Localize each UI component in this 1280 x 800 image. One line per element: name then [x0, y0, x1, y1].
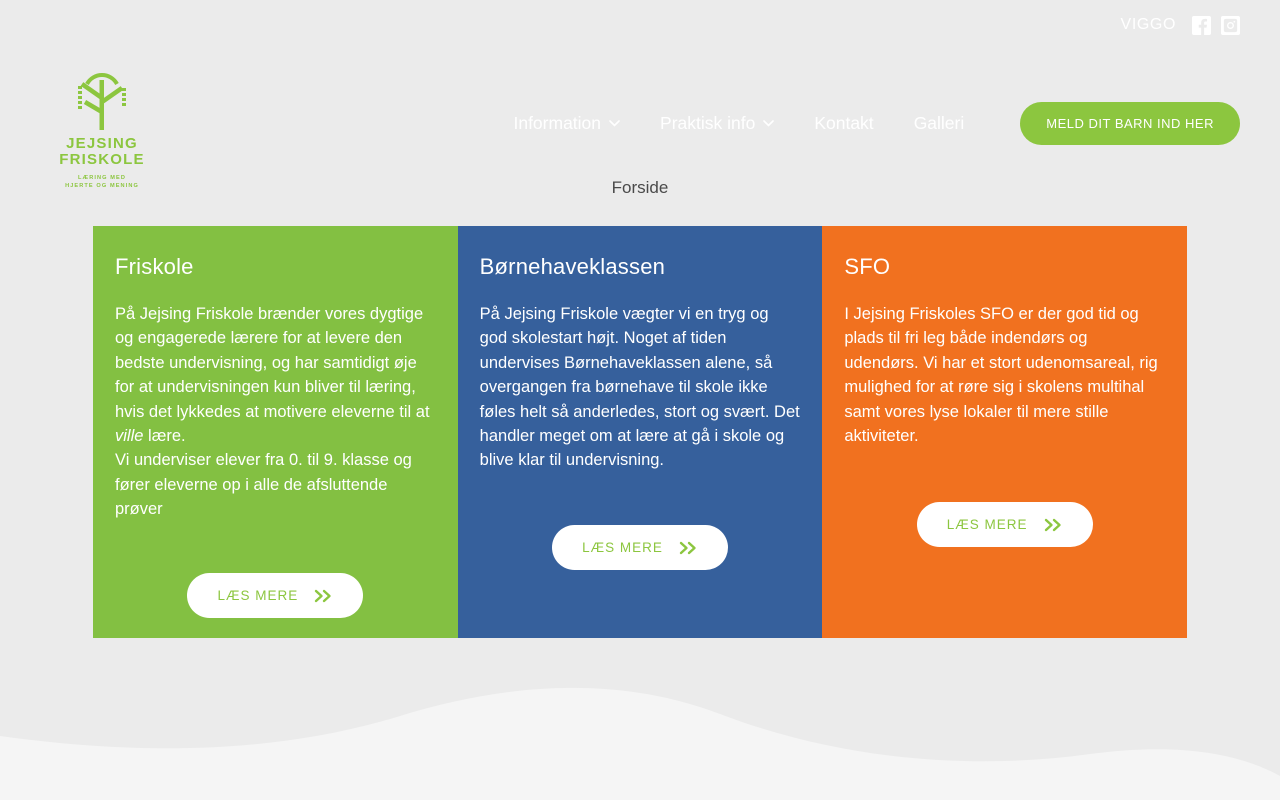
- card-body-part2: lære. Vi underviser elever fra 0. til 9.…: [115, 427, 412, 518]
- card-footer: LÆS MERE: [480, 525, 801, 638]
- card-sfo: SFO I Jejsing Friskoles SFO er der god t…: [822, 226, 1187, 638]
- card-footer: LÆS MERE: [844, 502, 1165, 638]
- card-title: SFO: [844, 254, 1165, 280]
- site-logo[interactable]: JEJSING FRISKOLE LÆRING MED HJERTE OG ME…: [52, 58, 152, 191]
- read-more-label: LÆS MERE: [217, 588, 298, 603]
- nav-item-label: Kontakt: [814, 113, 873, 134]
- card-friskole: Friskole På Jejsing Friskole brænder vor…: [93, 226, 458, 638]
- main-navigation: Information Praktisk info Kontakt Galler…: [493, 50, 1240, 145]
- card-body-emphasis: ville: [115, 427, 143, 445]
- feature-card-group: Friskole På Jejsing Friskole brænder vor…: [93, 226, 1187, 638]
- nav-item-information[interactable]: Information: [493, 105, 640, 142]
- chevron-down-icon: [609, 120, 620, 127]
- card-body: I Jejsing Friskoles SFO er der god tid o…: [844, 302, 1165, 448]
- nav-item-label: Information: [513, 113, 601, 134]
- logo-tree-icon: [65, 58, 139, 132]
- nav-item-label: Praktisk info: [660, 113, 755, 134]
- read-more-button-friskole[interactable]: LÆS MERE: [187, 573, 363, 618]
- double-chevron-right-icon: [679, 541, 698, 555]
- card-title: Friskole: [115, 254, 436, 280]
- nav-item-praktisk-info[interactable]: Praktisk info: [640, 105, 794, 142]
- logo-word-line2: FRISKOLE: [59, 151, 144, 168]
- chevron-down-icon: [763, 120, 774, 127]
- nav-item-label: Galleri: [914, 113, 965, 134]
- read-more-button-sfo[interactable]: LÆS MERE: [917, 502, 1093, 547]
- card-body: På Jejsing Friskole vægter vi en tryg og…: [480, 302, 801, 473]
- card-body-part1: På Jejsing Friskole brænder vores dygtig…: [115, 305, 430, 421]
- logo-wordmark: JEJSING FRISKOLE: [59, 136, 144, 168]
- logo-tagline: LÆRING MED HJERTE OG MENING: [65, 174, 139, 191]
- double-chevron-right-icon: [1044, 518, 1063, 532]
- card-footer: LÆS MERE: [115, 573, 436, 638]
- logo-tagline-line1: LÆRING MED: [78, 175, 126, 181]
- card-title: Børnehaveklassen: [480, 254, 801, 280]
- nav-item-galleri[interactable]: Galleri: [894, 105, 985, 142]
- logo-word-line1: JEJSING: [66, 135, 138, 152]
- read-more-button-bornehaveklassen[interactable]: LÆS MERE: [552, 525, 728, 570]
- card-bornehaveklassen: Børnehaveklassen På Jejsing Friskole væg…: [458, 226, 823, 638]
- site-header: JEJSING FRISKOLE LÆRING MED HJERTE OG ME…: [0, 0, 1280, 160]
- footer-wave-divider: [0, 680, 1280, 800]
- read-more-label: LÆS MERE: [582, 540, 663, 555]
- enroll-cta-button[interactable]: MELD DIT BARN IND HER: [1020, 102, 1240, 145]
- logo-tagline-line2: HJERTE OG MENING: [65, 183, 139, 189]
- page-title: Forside: [0, 178, 1280, 198]
- double-chevron-right-icon: [314, 589, 333, 603]
- read-more-label: LÆS MERE: [947, 517, 1028, 532]
- card-body: På Jejsing Friskole brænder vores dygtig…: [115, 302, 436, 522]
- nav-item-kontakt[interactable]: Kontakt: [794, 105, 893, 142]
